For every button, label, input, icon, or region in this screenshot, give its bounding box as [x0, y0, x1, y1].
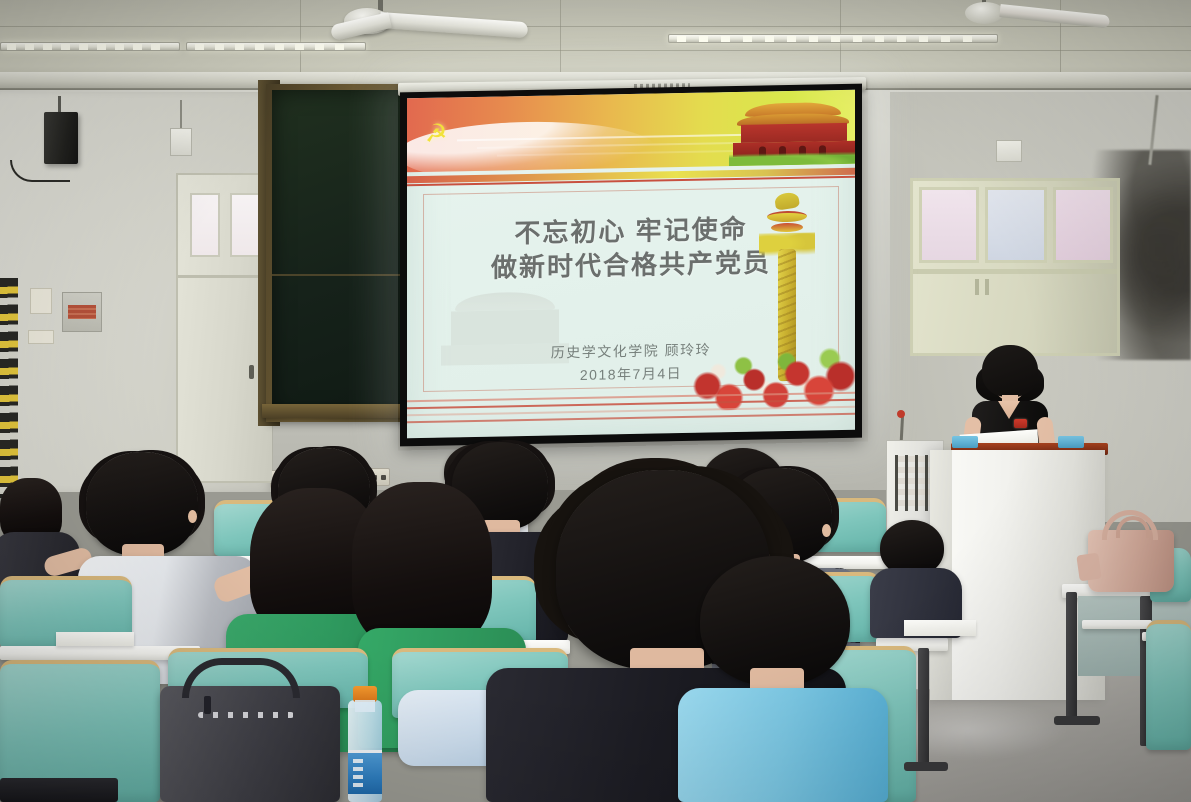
window-pane	[985, 187, 1047, 263]
tiananmen-gate-icon	[733, 98, 855, 166]
slide-footer-lines	[407, 392, 855, 429]
door-handle[interactable]	[249, 365, 254, 379]
classroom-photo-scene: ☭	[0, 0, 1191, 802]
wall-paper-note	[28, 330, 54, 344]
party-badge	[1014, 419, 1027, 428]
handbag-studs	[198, 712, 294, 718]
audience-head	[700, 556, 850, 686]
plaque-text	[68, 305, 96, 319]
fluorescent-light-strip	[186, 42, 366, 51]
desk-foot	[904, 762, 948, 771]
hammer-and-sickle-icon: ☭	[425, 121, 451, 147]
seat[interactable]	[1146, 620, 1191, 750]
microphone-icon	[897, 410, 905, 418]
desk-shelf	[1082, 620, 1152, 629]
wall-switch-box[interactable]	[996, 140, 1022, 162]
window-pane	[1053, 187, 1113, 263]
handbag-dark	[160, 686, 340, 802]
desk-leg	[918, 648, 929, 768]
handbag-pink	[1088, 530, 1174, 592]
audience-torso	[678, 688, 888, 802]
desk-foot	[1054, 716, 1100, 725]
right-wall-window-unit[interactable]	[910, 178, 1120, 356]
handbag-flap	[1076, 553, 1101, 582]
column-hazard-strip	[0, 278, 18, 498]
junction-box	[170, 128, 192, 156]
desk-leg	[1066, 592, 1077, 720]
audience-hair	[352, 482, 492, 648]
window-pane	[919, 187, 979, 263]
fluorescent-light-strip	[668, 34, 998, 43]
podium-blue-object	[1058, 436, 1084, 448]
presenter-hair	[982, 345, 1038, 397]
notebook	[904, 620, 976, 636]
conduit-rod	[180, 100, 182, 128]
ceiling-fan-blade	[379, 12, 528, 38]
projection-screen: ☭	[400, 84, 862, 447]
water-bottle	[348, 700, 382, 802]
wall-speaker	[44, 112, 78, 164]
slide-header-banner: ☭	[407, 90, 855, 173]
ceiling-fan-blade	[999, 4, 1110, 28]
wall-paper-note	[30, 288, 52, 314]
notebook	[56, 632, 134, 646]
bottle-label	[348, 750, 382, 794]
tablet-device[interactable]	[0, 778, 118, 802]
fluorescent-light-strip	[0, 42, 180, 51]
presentation-slide: ☭	[407, 90, 855, 439]
handbag-handle	[182, 658, 300, 698]
podium-blue-object	[952, 436, 978, 448]
wall-plaque	[62, 292, 102, 332]
cabinet-vents	[895, 455, 935, 511]
